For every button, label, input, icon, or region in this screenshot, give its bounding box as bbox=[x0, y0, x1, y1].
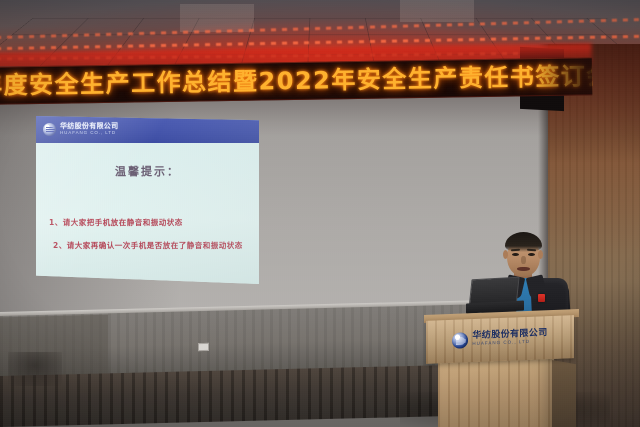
banner-edge-fade bbox=[532, 58, 593, 95]
podium-company-name-en: HUAFANG CO., LTD bbox=[472, 340, 547, 348]
podium-name-plate: 华纺股份有限公司 HUAFANG CO., LTD bbox=[452, 329, 547, 349]
podium-column bbox=[438, 358, 554, 427]
slide-company-name-cn: 华纺股份有限公司 bbox=[60, 123, 118, 130]
slide-company-name: 华纺股份有限公司 HUAFANG CO., LTD bbox=[60, 123, 118, 136]
speaker-eye-left bbox=[512, 253, 519, 256]
ceiling-tile-highlight bbox=[180, 4, 254, 32]
slide-title: 温馨提示： bbox=[36, 163, 259, 179]
huafang-logo-icon bbox=[43, 123, 56, 136]
slide-company-name-en: HUAFANG CO., LTD bbox=[60, 131, 118, 136]
foreground-furniture bbox=[8, 352, 62, 386]
wall-outlet bbox=[198, 343, 209, 351]
slide-header: 华纺股份有限公司 HUAFANG CO., LTD bbox=[36, 116, 259, 143]
conference-photo: 年度安全生产工作总结暨2022年安全生产责任书签订会议 华纺股份有限公司 HUA… bbox=[0, 0, 640, 427]
slide-bullet-item: 1、请大家把手机放在静音和振动状态 bbox=[49, 217, 259, 228]
slide-bullet-item: 2、请大家再确认一次手机是否放在了静音和振动状态 bbox=[53, 240, 259, 251]
ceiling-tile-highlight bbox=[400, 0, 474, 22]
podium: 华纺股份有限公司 HUAFANG CO., LTD bbox=[424, 312, 579, 427]
speaker-eye-right bbox=[528, 253, 535, 256]
speaker-ear-left bbox=[503, 250, 508, 259]
banner-text: 年度安全生产工作总结暨2022年安全生产责任书签订会议 bbox=[0, 64, 592, 98]
speaker-ear-right bbox=[538, 250, 543, 259]
podium-company-name: 华纺股份有限公司 HUAFANG CO., LTD bbox=[472, 329, 547, 348]
huafang-logo-icon bbox=[452, 332, 468, 349]
speaker-nose bbox=[521, 256, 526, 264]
speaker-mouth bbox=[517, 267, 530, 271]
projection-screen: 华纺股份有限公司 HUAFANG CO., LTD 温馨提示： 1、请大家把手机… bbox=[36, 116, 259, 284]
podium-side-panel bbox=[552, 360, 576, 427]
slide-bullet-list: 1、请大家把手机放在静音和振动状态 2、请大家再确认一次手机是否放在了静音和振动… bbox=[49, 217, 259, 251]
lapel-badge-icon bbox=[538, 294, 545, 302]
podium-front-panel: 华纺股份有限公司 HUAFANG CO., LTD bbox=[426, 315, 574, 364]
slide-body: 温馨提示： 1、请大家把手机放在静音和振动状态 2、请大家再确认一次手机是否放在… bbox=[36, 143, 259, 284]
